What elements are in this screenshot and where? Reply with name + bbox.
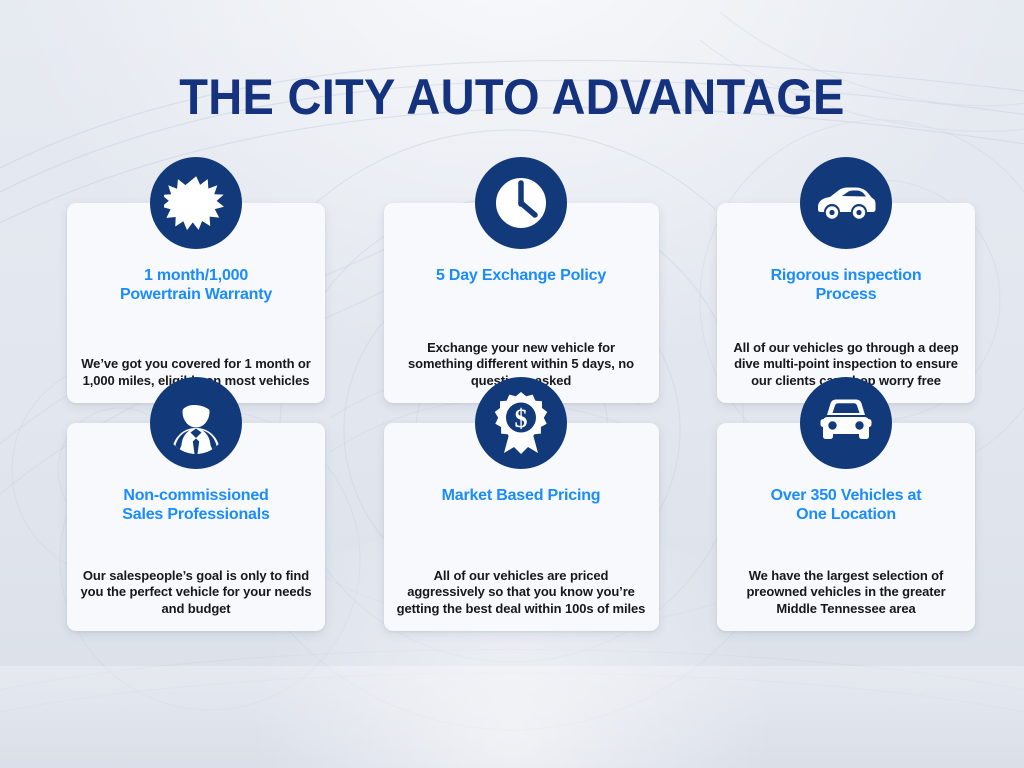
background-band bbox=[0, 666, 1024, 768]
card-heading-line1: Non-commissioned bbox=[123, 487, 268, 504]
dollar-badge-icon: $ bbox=[475, 377, 567, 469]
advantage-card-inventory: Over 350 Vehicles atOne Location We have… bbox=[717, 423, 975, 631]
card-heading-line1: Rigorous inspection bbox=[771, 267, 922, 284]
card-heading: Over 350 Vehicles atOne Location bbox=[771, 487, 922, 525]
card-heading-line2: Powertrain Warranty bbox=[120, 286, 272, 303]
svg-text:$: $ bbox=[515, 404, 528, 433]
car-side-icon bbox=[800, 157, 892, 249]
advantage-card-warranty: 1 month/1,000Powertrain Warranty We’ve g… bbox=[67, 203, 325, 403]
card-heading: Market Based Pricing bbox=[442, 487, 601, 506]
advantage-card-grid: 1 month/1,000Powertrain Warranty We’ve g… bbox=[67, 203, 975, 631]
page-title: THE CITY AUTO ADVANTAGE bbox=[31, 72, 994, 122]
businessperson-icon bbox=[150, 377, 242, 469]
card-body: Our salespeople’s goal is only to find y… bbox=[77, 568, 315, 617]
card-heading-line1: 5 Day Exchange Policy bbox=[436, 267, 606, 284]
card-heading-line1: Market Based Pricing bbox=[442, 487, 601, 504]
card-heading: 1 month/1,000Powertrain Warranty bbox=[120, 267, 272, 305]
card-heading-line2: Process bbox=[816, 286, 877, 303]
card-body: All of our vehicles are priced aggressiv… bbox=[394, 568, 649, 617]
advantage-card-pricing: $ Market Based Pricing All of our vehicl… bbox=[384, 423, 659, 631]
advantage-card-exchange: 5 Day Exchange Policy Exchange your new … bbox=[384, 203, 659, 403]
card-heading-line2: Sales Professionals bbox=[122, 506, 269, 523]
starburst-icon bbox=[150, 157, 242, 249]
card-heading: 5 Day Exchange Policy bbox=[436, 267, 606, 286]
card-heading-line1: Over 350 Vehicles at bbox=[771, 487, 922, 504]
card-heading-line1: 1 month/1,000 bbox=[144, 267, 248, 284]
advantage-card-inspection: Rigorous inspectionProcess All of our ve… bbox=[717, 203, 975, 403]
card-heading-line2: One Location bbox=[796, 506, 896, 523]
card-heading: Non-commissionedSales Professionals bbox=[122, 487, 269, 525]
advantage-infographic: THE CITY AUTO ADVANTAGE 1 month/1,000Pow… bbox=[0, 0, 1024, 768]
card-heading: Rigorous inspectionProcess bbox=[771, 267, 922, 305]
car-front-icon bbox=[800, 377, 892, 469]
clock-icon bbox=[475, 157, 567, 249]
card-body: We have the largest selection of preowne… bbox=[727, 568, 965, 617]
advantage-card-sales: Non-commissionedSales Professionals Our … bbox=[67, 423, 325, 631]
